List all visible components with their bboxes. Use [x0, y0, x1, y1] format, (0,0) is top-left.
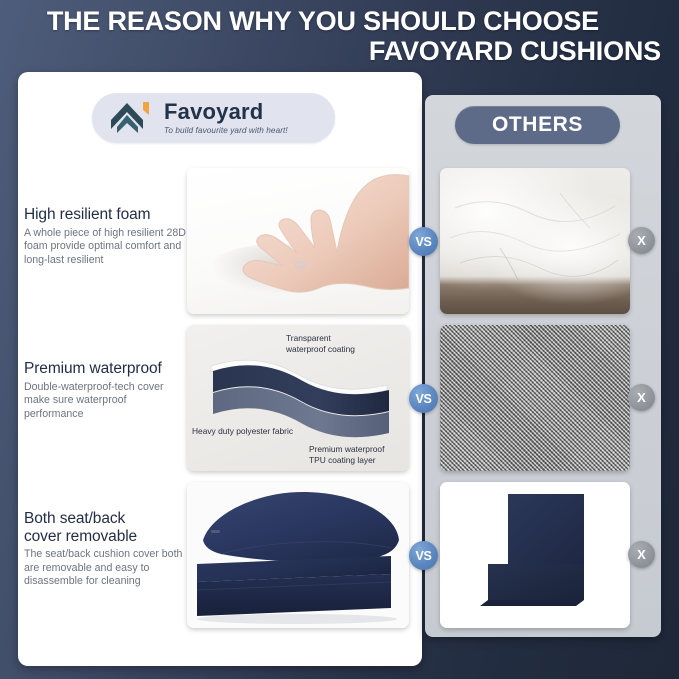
headline-line-2: FAVOYARD CUSHIONS — [0, 36, 661, 66]
others-image-fiber — [440, 168, 630, 314]
others-image-weave — [440, 325, 630, 471]
page-title: THE REASON WHY YOU SHOULD CHOOSE FAVOYAR… — [0, 6, 661, 66]
vs-badge-3: VS — [409, 541, 438, 570]
brand-tagline: To build favourite yard with heart! — [164, 126, 288, 135]
vs-badge-1: VS — [409, 227, 438, 256]
diagram-label-bottom: Premium waterproof TPU coating layer — [309, 444, 384, 465]
others-image-cushion — [440, 482, 630, 628]
feature-text-2: Premium waterproof Double-waterproof-tec… — [24, 360, 186, 421]
feature-title-3: Both seat/back cover removable — [24, 510, 186, 545]
others-label: OTHERS — [492, 113, 583, 137]
diagram-label-left: Heavy duty polyester fabric — [192, 426, 293, 437]
headline-line-1: THE REASON WHY YOU SHOULD CHOOSE — [0, 6, 661, 36]
feature-desc-1: A whole piece of high resilient 28D foam… — [24, 227, 186, 268]
brand-name: Favoyard — [164, 101, 288, 123]
x-badge-2: X — [628, 384, 655, 411]
favoyard-logo-icon — [110, 101, 156, 135]
feature-desc-3: The seat/back cushion cover both are rem… — [24, 548, 186, 589]
feature-title-1: High resilient foam — [24, 206, 186, 224]
others-badge: OTHERS — [455, 106, 620, 144]
vs-badge-2: VS — [409, 384, 438, 413]
feature-text-1: High resilient foam A whole piece of hig… — [24, 206, 186, 267]
feature-text-3: Both seat/back cover removable The seat/… — [24, 510, 186, 589]
favoyard-image-cushion — [187, 482, 409, 628]
feature-desc-2: Double-waterproof-tech cover make sure w… — [24, 381, 186, 422]
favoyard-image-foam — [187, 168, 409, 314]
diagram-label-top: Transparent waterproof coating — [286, 333, 355, 354]
feature-title-2: Premium waterproof — [24, 360, 186, 378]
favoyard-image-waterproof-diagram: Transparent waterproof coating Heavy dut… — [187, 325, 409, 471]
x-badge-1: X — [628, 227, 655, 254]
brand-badge: Favoyard To build favourite yard with he… — [92, 93, 335, 143]
x-badge-3: X — [628, 541, 655, 568]
